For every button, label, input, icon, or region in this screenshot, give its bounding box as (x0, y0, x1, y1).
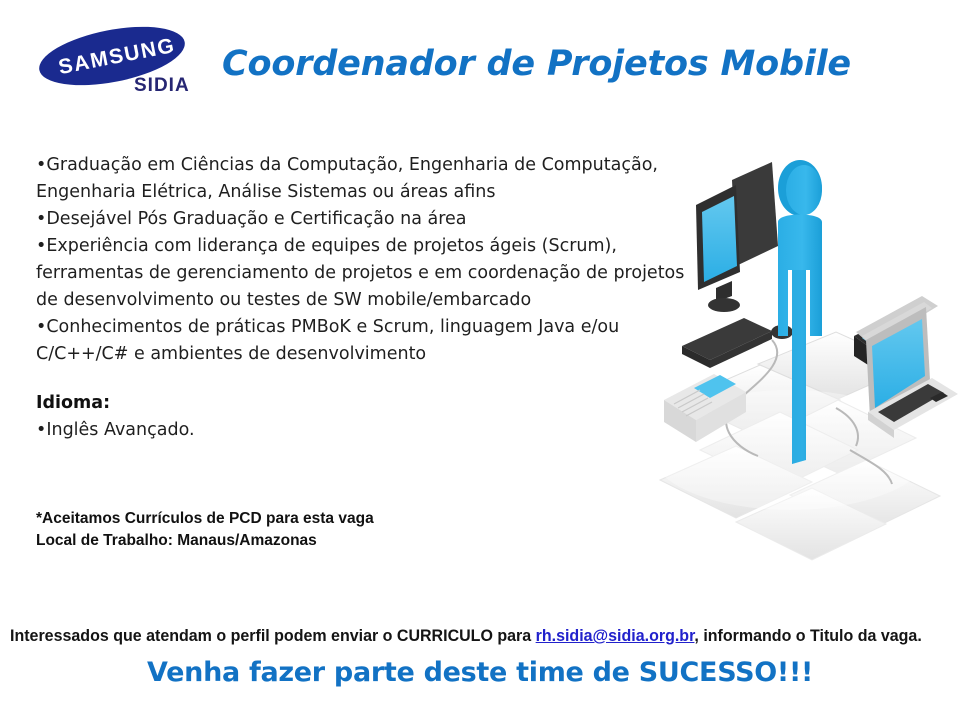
contact-suffix-text: , informando o Titulo da vaga. (694, 627, 921, 645)
page-title: Coordenador de Projetos Mobile (222, 44, 851, 84)
requirements-list: •Graduação em Ciências da Computação, En… (36, 152, 686, 368)
isometric-workplace-illustration (640, 150, 960, 600)
requirement-line: •Desejável Pós Graduação e Certificação … (36, 206, 686, 233)
requirement-line: de desenvolvimento ou testes de SW mobil… (36, 287, 686, 314)
desktop-monitor-icon (696, 162, 778, 312)
laptop-icon (856, 296, 958, 438)
language-value: •Inglês Avançado. (36, 417, 195, 444)
language-section: Idioma: •Inglês Avançado. (36, 390, 195, 444)
keyboard-icon (682, 318, 772, 368)
requirement-line: •Graduação em Ciências da Computação, En… (36, 152, 686, 179)
contact-email-link[interactable]: rh.sidia@sidia.org.br (536, 627, 695, 645)
requirement-line: ferramentas de gerenciamento de projetos… (36, 260, 686, 287)
header-banner: SAMSUNG SIDIA Coordenador de Projetos Mo… (0, 0, 960, 115)
contact-instruction: Interessados que atendam o perfil podem … (10, 627, 922, 646)
note-line-location: Local de Trabalho: Manaus/Amazonas (36, 530, 374, 552)
contact-prefix-text: Interessados que atendam o perfil podem … (10, 627, 536, 645)
note-line-pcd: *Aceitamos Currículos de PCD para esta v… (36, 508, 374, 530)
requirement-line: •Conhecimentos de práticas PMBoK e Scrum… (36, 314, 686, 341)
sidia-wordmark: SIDIA (134, 75, 190, 97)
requirement-line: C/C++/C# e ambientes de desenvolvimento (36, 341, 686, 368)
language-heading: Idioma: (36, 390, 195, 417)
requirement-line: •Experiência com liderança de equipes de… (36, 233, 686, 260)
samsung-sidia-logo: SAMSUNG SIDIA (38, 28, 218, 98)
notes-section: *Aceitamos Currículos de PCD para esta v… (36, 508, 374, 552)
closing-tagline: Venha fazer parte deste time de SUCESSO!… (0, 657, 960, 688)
requirement-line: Engenharia Elétrica, Análise Sistemas ou… (36, 179, 686, 206)
